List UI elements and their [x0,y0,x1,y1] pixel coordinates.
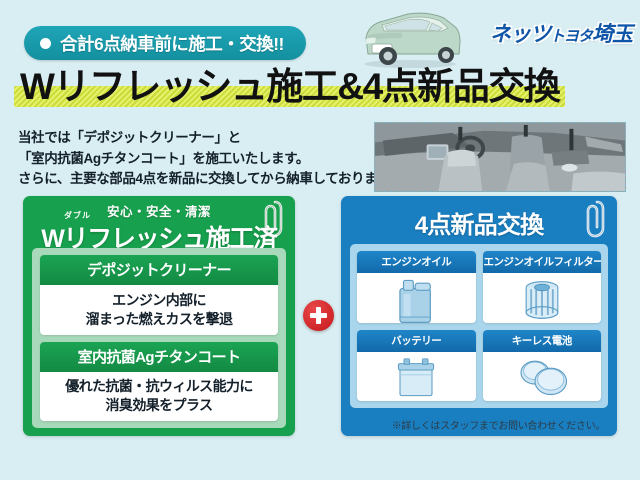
panels-container: 安心・安全・清潔 ダブル Wリフレッシュ施工済 デポジットクリーナー エンジン内… [0,196,640,448]
promo-badge-label: 合計6点納車前に施工・交換!! [60,31,284,56]
service-card-body: 優れた抗菌・抗ウィルス能力に 消臭効果をプラス [40,372,278,422]
service-card-line-1: 優れた抗菌・抗ウィルス能力に [65,377,253,396]
part-card-keyless-battery[interactable]: キーレス電池 [483,330,602,402]
car-battery-icon [357,352,476,402]
description-block: 当社では「デポジットクリーナー」と 「室内抗菌Agチタンコート」を施工いたします… [18,128,378,190]
green-panel-cards: デポジットクリーナー エンジン内部に 溜まった燃えカスを撃退 室内抗菌Agチタン… [32,248,286,428]
oil-filter-icon [483,273,602,323]
banner-header: 合計6点納車前に施工・交換!! ネッツトヨタ埼玉 Wリフレッシュ施工&4点新品交… [0,0,640,118]
part-card-title: キーレス電池 [483,330,602,352]
page-title: Wリフレッシュ施工&4点新品交換 [20,66,559,107]
service-card-ag-titan-coat[interactable]: 室内抗菌Agチタンコート 優れた抗菌・抗ウィルス能力に 消臭効果をプラス [40,342,278,422]
service-card-line-2: 消臭効果をプラス [106,396,213,415]
brand-logo: ネッツトヨタ埼玉 [490,18,632,48]
paperclip-icon [585,198,607,238]
blue-panel: 4点新品交換 エンジンオイル エンジンオイルフィルター [341,196,617,436]
part-card-oil-filter[interactable]: エンジンオイルフィルター [483,251,602,323]
blue-panel-title: 4点新品交換 [341,196,617,246]
description-line-3: さらに、主要な部品4点を新品に交換してから納車しております! [18,169,378,190]
service-card-deposit-cleaner[interactable]: デポジットクリーナー エンジン内部に 溜まった燃えカスを撃退 [40,255,278,335]
service-card-line-2: 溜まった燃えカスを撃退 [86,310,233,329]
green-panel: 安心・安全・清潔 ダブル Wリフレッシュ施工済 デポジットクリーナー エンジン内… [23,196,295,436]
promo-badge: 合計6点納車前に施工・交換!! [24,26,306,60]
service-card-body: エンジン内部に 溜まった燃えカスを撃退 [40,285,278,335]
car-photo-exterior [352,4,468,70]
part-card-engine-oil[interactable]: エンジンオイル [357,251,476,323]
car-photo-interior [374,122,626,192]
dot-bullet-icon [40,38,51,49]
service-card-line-1: エンジン内部に [112,291,206,310]
service-card-title: 室内抗菌Agチタンコート [40,342,278,372]
description-line-2: 「室内抗菌Agチタンコート」を施工いたします。 [18,149,378,170]
logo-toyota: トヨタ [550,28,592,45]
service-card-title: デポジットクリーナー [40,255,278,285]
coin-battery-icon [483,352,602,402]
part-card-title: バッテリー [357,330,476,352]
part-card-title: エンジンオイル [357,251,476,273]
blue-panel-cards: エンジンオイル エンジンオイルフィルター [350,244,608,408]
oil-jug-icon [357,273,476,323]
logo-saitama: 埼玉 [592,23,632,46]
headline-container: Wリフレッシュ施工&4点新品交換 [14,64,565,112]
footnote-text: ※詳しくはスタッフまでお問い合わせください。 [392,417,605,432]
part-card-title: エンジンオイルフィルター [483,251,602,273]
description-line-1: 当社では「デポジットクリーナー」と [18,128,378,149]
logo-netz: ネッツ [490,23,550,46]
part-card-battery[interactable]: バッテリー [357,330,476,402]
plus-icon [303,300,334,331]
green-panel-ruby: ダブル [64,210,91,221]
